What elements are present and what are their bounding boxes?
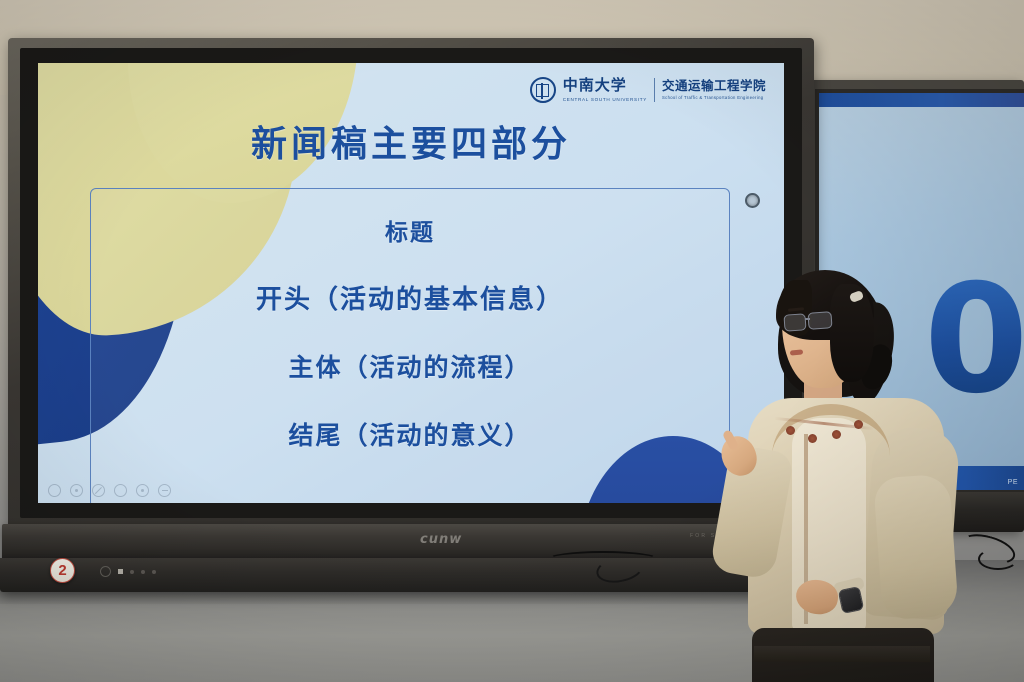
university-name-en: CENTRAL SOUTH UNIVERSITY (563, 97, 647, 102)
presentation-slide: 中南大学 CENTRAL SOUTH UNIVERSITY 交通运输工程学院 S… (38, 63, 784, 503)
presenter-embroidery-flower-2 (808, 434, 817, 443)
slide-content-box: 标题 开头（活动的基本信息） 主体（活动的流程） 结尾（活动的意义） (90, 188, 730, 503)
board-frame-inner: 中南大学 CENTRAL SOUTH UNIVERSITY 交通运输工程学院 S… (20, 48, 802, 518)
slide-title: 新闻稿主要四部分 (38, 115, 784, 167)
presenter-embroidery-flower-1 (786, 426, 795, 435)
content-line-2: 开头（活动的基本信息） (256, 279, 564, 316)
school-name-block: 交通运输工程学院 School of Traffic & Transportat… (662, 80, 766, 101)
chin-dot-2-icon (141, 570, 145, 574)
presenter-glasses-left-lens (783, 313, 806, 331)
school-name-zh: 交通运输工程学院 (662, 80, 766, 94)
board-frame: 中南大学 CENTRAL SOUTH UNIVERSITY 交通运输工程学院 S… (8, 38, 814, 528)
presenter-skirt-waistband (754, 646, 930, 662)
crest-glyph-icon (536, 84, 549, 97)
board-floating-toolbar[interactable] (48, 484, 171, 497)
annotate-icon[interactable] (92, 484, 105, 497)
university-logo: 中南大学 CENTRAL SOUTH UNIVERSITY 交通运输工程学院 S… (530, 77, 766, 103)
board-chin-controls[interactable] (100, 566, 156, 577)
zoom-icon[interactable] (136, 484, 149, 497)
power-button-icon[interactable] (100, 566, 111, 577)
secondary-slide-bottom-text: PE (1008, 479, 1018, 486)
university-name-zh: 中南大学 (563, 78, 647, 95)
logo-divider (654, 78, 655, 102)
content-line-3: 主体（活动的流程） (288, 348, 531, 384)
panel-camera-icon (745, 193, 760, 208)
presenter-glasses-bridge (805, 318, 810, 320)
board-speaker-bar (2, 524, 820, 560)
main-smart-board[interactable]: 中南大学 CENTRAL SOUTH UNIVERSITY 交通运输工程学院 S… (8, 38, 814, 590)
back-icon[interactable] (48, 484, 61, 497)
university-crest-icon (530, 77, 556, 103)
secondary-slide-topbar (819, 93, 1024, 107)
presenter-right-arm (873, 474, 959, 621)
chin-dot-1-icon (130, 570, 134, 574)
university-name-block: 中南大学 CENTRAL SOUTH UNIVERSITY (563, 78, 647, 102)
classroom-scene: 02 PE (0, 0, 1024, 682)
presenter-embroidery-flower-3 (832, 430, 841, 439)
presenter-embroidery-flower-4 (854, 420, 863, 429)
record-icon[interactable] (70, 484, 83, 497)
status-indicator-icon (118, 569, 123, 574)
board-brand-label: cunw (420, 532, 462, 547)
undo-icon[interactable] (114, 484, 127, 497)
presenter-glasses-right-lens (807, 311, 832, 330)
board-number-sticker: 2 (50, 558, 75, 583)
content-line-4: 结尾（活动的意义） (288, 416, 531, 452)
cable-segment-4 (978, 548, 1018, 570)
board-screen[interactable]: 中南大学 CENTRAL SOUTH UNIVERSITY 交通运输工程学院 S… (38, 63, 784, 503)
content-line-1: 标题 (385, 213, 435, 247)
presenter (700, 258, 980, 682)
minimize-icon[interactable] (158, 484, 171, 497)
school-name-en: School of Traffic & Transportation Engin… (662, 95, 766, 100)
chin-dot-3-icon (152, 570, 156, 574)
presenter-smartwatch (838, 586, 865, 614)
